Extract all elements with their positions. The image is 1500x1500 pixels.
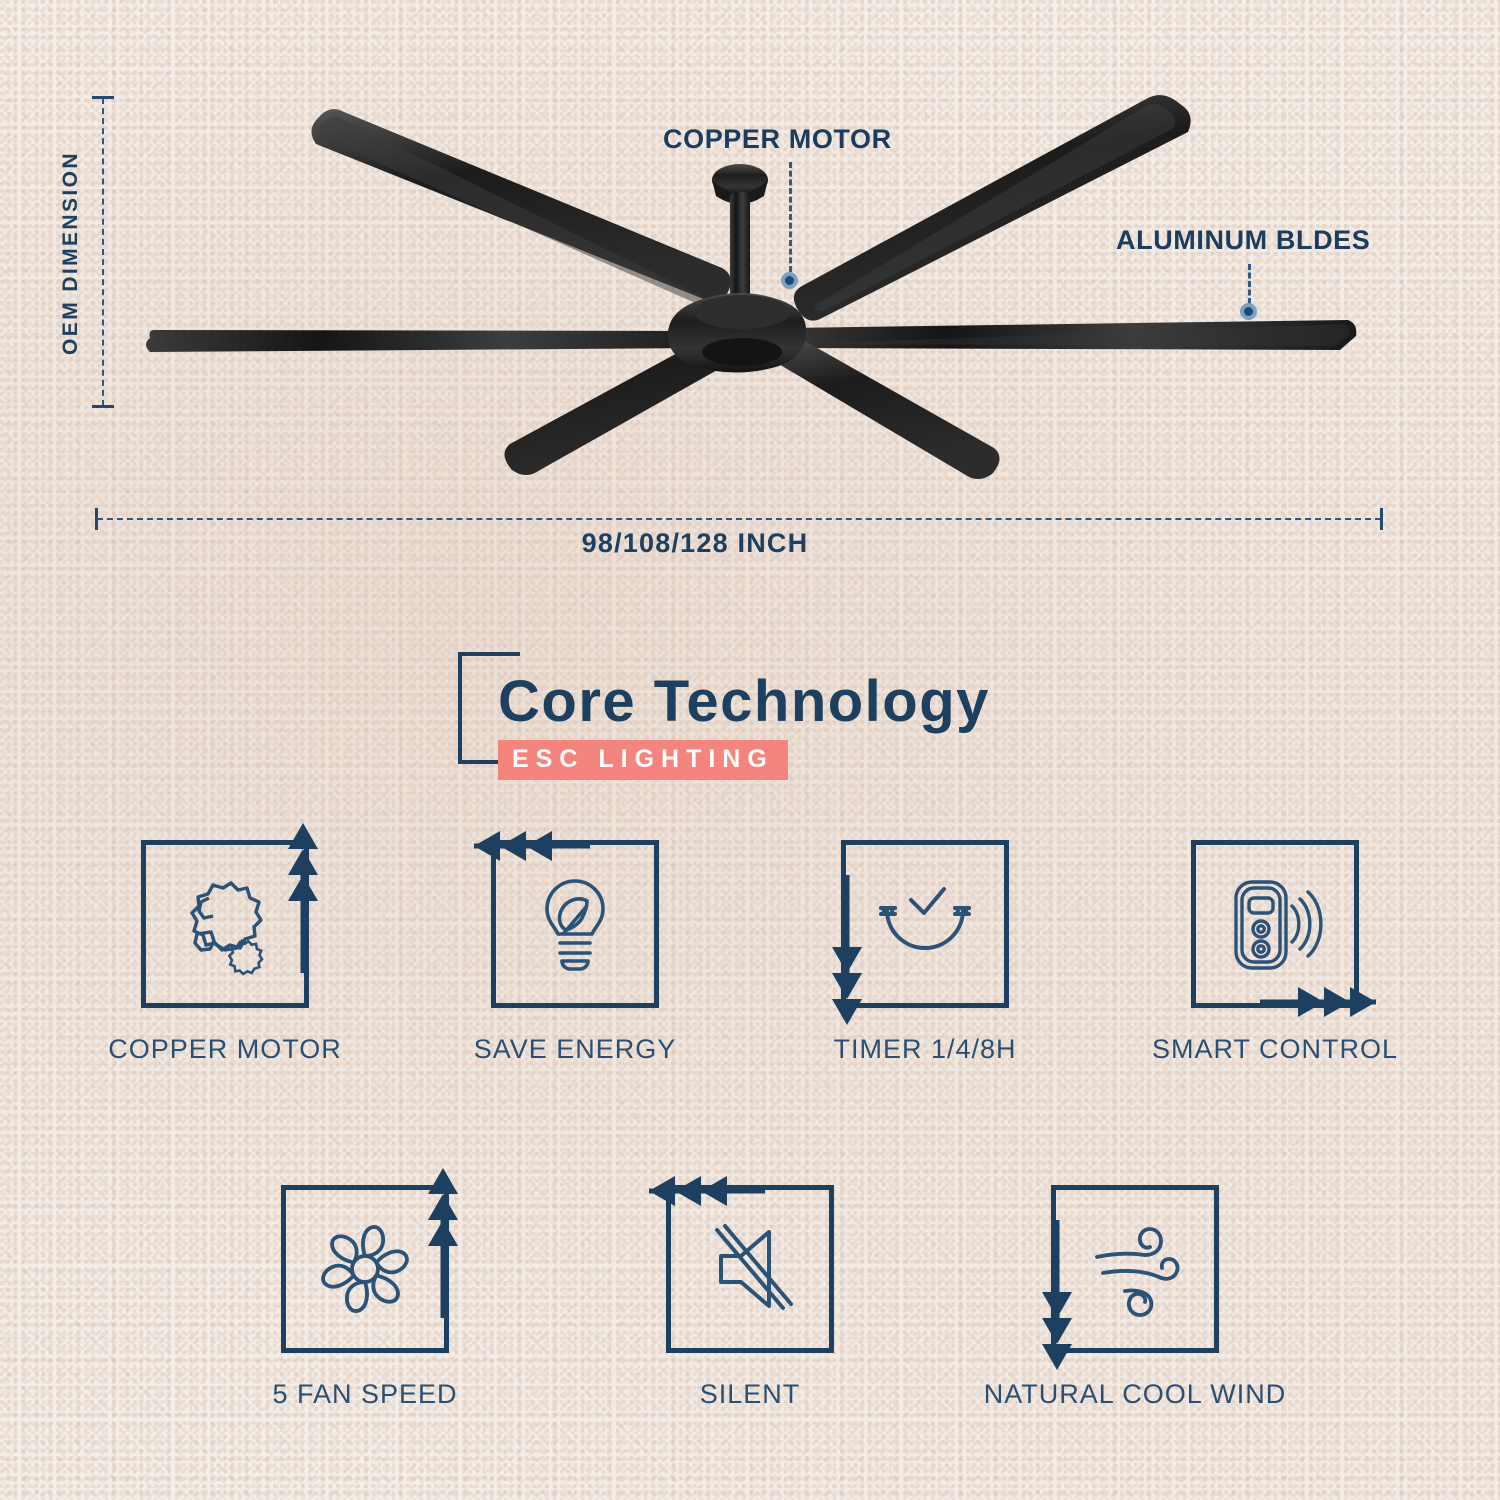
feature-natural-cool-wind[interactable]: NATURAL COOL WIND — [1010, 1185, 1260, 1410]
remote-signal-icon — [1220, 872, 1330, 976]
arrows-right-icon — [1226, 985, 1376, 1019]
feature-label: COPPER MOTOR — [108, 1034, 342, 1065]
product-diagram: OEM DIMENSION 98/108/128 INCH COPPER MOT… — [0, 0, 1500, 600]
dimension-dash-horizontal — [97, 518, 1381, 520]
feature-icon-box — [281, 1185, 449, 1353]
feature-copper-motor[interactable]: COPPER MOTOR — [100, 840, 350, 1065]
clock-timer-icon — [871, 876, 979, 972]
core-technology-heading: Core Technology ESC LIGHTING — [0, 640, 1500, 800]
dimension-cap-right — [1380, 508, 1383, 530]
mute-speaker-icon — [697, 1216, 803, 1322]
wind-swirl-icon — [1081, 1217, 1189, 1321]
ceiling-fan-illustration — [0, 0, 1500, 560]
arrows-up-icon — [286, 823, 320, 973]
page-title: Core Technology — [498, 668, 1098, 735]
feature-label: 5 FAN SPEED — [272, 1379, 457, 1410]
feature-label: NATURAL COOL WIND — [984, 1379, 1287, 1410]
arrows-up-icon — [426, 1168, 460, 1318]
feature-timer[interactable]: TIMER 1/4/8H — [800, 840, 1050, 1065]
feature-row-2: 5 FAN SPEED — [0, 1185, 1500, 1410]
feature-icon-box — [1051, 1185, 1219, 1353]
feature-label: TIMER 1/4/8H — [833, 1034, 1016, 1065]
callout-copper-motor-dot — [781, 272, 798, 289]
feature-smart-control[interactable]: SMART CONTROL — [1150, 840, 1400, 1065]
vertical-dimension-line — [92, 96, 114, 408]
arrows-left-icon — [649, 1174, 799, 1208]
feature-row-1: COPPER MOTOR — [0, 840, 1500, 1065]
fan-hub — [668, 293, 806, 373]
feature-save-energy[interactable]: SAVE ENERGY — [450, 840, 700, 1065]
arrows-left-icon — [474, 829, 624, 863]
feature-label: SAVE ENERGY — [474, 1034, 677, 1065]
arrows-down-icon — [1040, 1220, 1074, 1370]
feature-grid: COPPER MOTOR — [0, 840, 1500, 1410]
brand-band: ESC LIGHTING — [498, 740, 788, 780]
feature-label: SILENT — [700, 1379, 801, 1410]
fan-blade — [772, 320, 1356, 350]
feature-icon-box — [666, 1185, 834, 1353]
feature-icon-box — [1191, 840, 1359, 1008]
callout-aluminum-blades-dot — [1240, 303, 1257, 320]
fan-blades-icon — [310, 1214, 420, 1324]
arrows-down-icon — [830, 875, 864, 1025]
horizontal-dimension-line — [95, 508, 1383, 530]
fan-blade — [766, 331, 1000, 479]
feature-icon-box — [491, 840, 659, 1008]
feature-silent[interactable]: SILENT — [625, 1185, 875, 1410]
callout-aluminum-blades-label: ALUMINUM BLDES — [1116, 225, 1370, 256]
feature-label: SMART CONTROL — [1152, 1034, 1398, 1065]
feature-icon-box — [141, 840, 309, 1008]
callout-copper-motor-stem — [789, 162, 792, 272]
feature-fan-speed[interactable]: 5 FAN SPEED — [240, 1185, 490, 1410]
callout-copper-motor-label: COPPER MOTOR — [663, 124, 892, 155]
horizontal-dimension-label: 98/108/128 INCH — [0, 528, 1390, 559]
fan-blade — [146, 330, 726, 352]
feature-icon-box — [841, 840, 1009, 1008]
dimension-dash-vertical — [102, 98, 104, 406]
vertical-dimension-label: OEM DIMENSION — [56, 100, 86, 406]
gear-motor-icon — [173, 872, 277, 976]
vertical-dimension-text: OEM DIMENSION — [59, 151, 83, 355]
dimension-cap-bottom — [92, 405, 114, 408]
leaf-bulb-icon — [524, 873, 626, 975]
callout-aluminum-blades-stem — [1248, 264, 1251, 304]
